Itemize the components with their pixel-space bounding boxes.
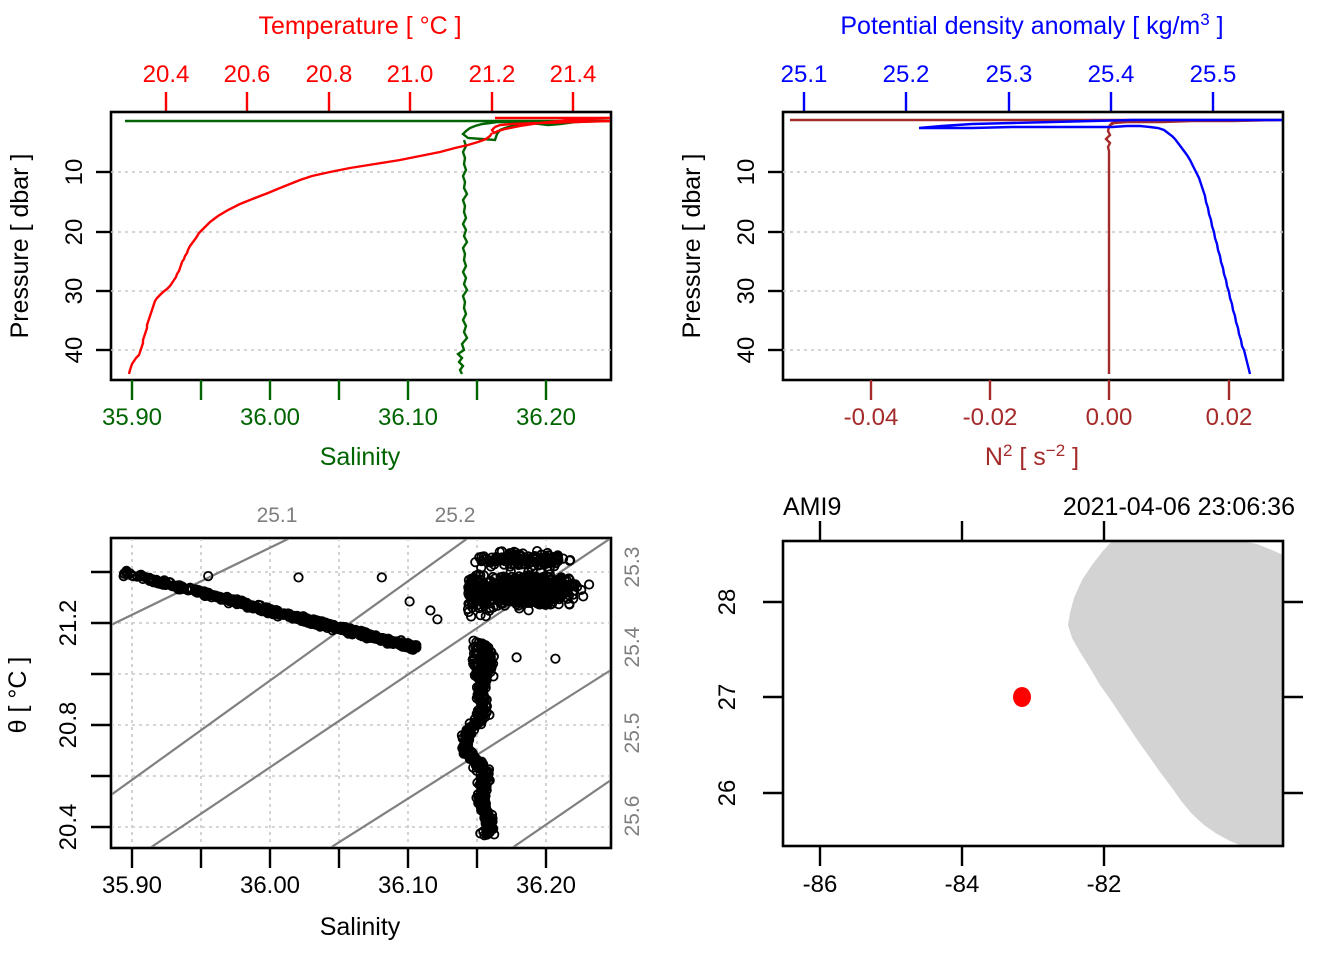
salinity-tick-labels-ts-diagram: 35.90 36.00 36.10 36.20 (102, 872, 576, 899)
svg-text:25.2: 25.2 (435, 504, 476, 527)
svg-text:25.5: 25.5 (621, 713, 644, 754)
salinity-ticks (132, 380, 546, 400)
isopycnal-labels-top: 25.1 25.2 (257, 504, 476, 527)
svg-text:-84: -84 (945, 871, 980, 898)
svg-text:21.2: 21.2 (469, 61, 516, 88)
svg-text:0.02: 0.02 (1206, 404, 1253, 431)
map-left-ticks (763, 602, 783, 793)
map-top-ticks (820, 521, 1104, 541)
svg-text:20.4: 20.4 (143, 61, 190, 88)
station-map-svg: AMI9 2021-04-06 23:06:36 28 27 26 (672, 480, 1344, 960)
theta-ticks (91, 572, 111, 827)
svg-text:25.1: 25.1 (257, 504, 298, 527)
salinity-axis-title: Salinity (320, 443, 401, 471)
svg-text:36.20: 36.20 (516, 872, 576, 899)
station-timestamp-label: 2021-04-06 23:06:36 (1063, 493, 1295, 521)
svg-text:-86: -86 (803, 871, 838, 898)
svg-text:21.4: 21.4 (550, 61, 597, 88)
gridlines-density (783, 172, 1283, 350)
svg-text:-0.04: -0.04 (844, 404, 899, 431)
svg-text:28: 28 (714, 589, 741, 616)
temperature-axis-title: Temperature [ °C ] (258, 12, 461, 40)
svg-text:36.10: 36.10 (378, 404, 438, 431)
panel-density-n2-profile: Potential density anomaly [ kg/m3 ] 25.1… (672, 0, 1344, 480)
panel-station-map: AMI9 2021-04-06 23:06:36 28 27 26 (672, 480, 1344, 960)
pressure-tick-labels-left: 10 20 30 40 (61, 159, 88, 364)
svg-text:20.8: 20.8 (306, 61, 353, 88)
profile-ts-svg: Temperature [ °C ] 20.4 20.6 20.8 21.0 2… (0, 0, 672, 480)
svg-text:25.3: 25.3 (621, 547, 644, 588)
svg-text:20: 20 (733, 219, 760, 246)
svg-text:10: 10 (61, 159, 88, 186)
density-tick-labels: 25.1 25.2 25.3 25.4 25.5 (781, 61, 1237, 88)
svg-text:25.6: 25.6 (621, 796, 644, 837)
svg-text:36.00: 36.00 (240, 404, 300, 431)
svg-text:30: 30 (733, 278, 760, 305)
svg-text:20.4: 20.4 (55, 804, 82, 851)
panel-ts-diagram: 25.1 25.2 25.3 25.4 25.5 25.6 θ [ °C ] 2… (0, 480, 672, 960)
salinity-ticks-ts-diagram (132, 848, 546, 868)
svg-text:40: 40 (733, 337, 760, 364)
svg-text:35.90: 35.90 (102, 404, 162, 431)
svg-text:36.20: 36.20 (516, 404, 576, 431)
plot-box-density (783, 112, 1283, 380)
pressure-axis-title-right: Pressure [ dbar ] (678, 154, 706, 339)
map-longitude-labels: -86 -84 -82 (803, 871, 1122, 898)
plot-box-ts (111, 112, 611, 380)
theta-tick-labels: 21.2 20.8 20.4 (55, 600, 82, 851)
ts-diagram-svg: 25.1 25.2 25.3 25.4 25.5 25.6 θ [ °C ] 2… (0, 480, 672, 960)
temperature-ticks (166, 92, 573, 112)
map-right-ticks (1283, 602, 1303, 793)
svg-text:25.3: 25.3 (986, 61, 1033, 88)
n2-axis-title: N2 [ s−2 ] (985, 441, 1079, 471)
station-name-label: AMI9 (783, 493, 841, 521)
svg-text:40: 40 (61, 337, 88, 364)
svg-text:20.6: 20.6 (224, 61, 271, 88)
map-latitude-labels: 28 27 26 (714, 589, 741, 807)
svg-text:26: 26 (714, 780, 741, 807)
svg-text:21.0: 21.0 (387, 61, 434, 88)
svg-text:25.4: 25.4 (1088, 61, 1135, 88)
svg-text:36.00: 36.00 (240, 872, 300, 899)
n2-ticks (871, 380, 1229, 400)
svg-text:27: 27 (714, 684, 741, 711)
temperature-profile-line (129, 118, 611, 374)
svg-text:0.00: 0.00 (1086, 404, 1133, 431)
svg-text:30: 30 (61, 278, 88, 305)
n2-tick-labels: -0.04 -0.02 0.00 0.02 (844, 404, 1253, 431)
salinity-profile-line (125, 121, 611, 374)
density-ticks (804, 92, 1213, 112)
pressure-ticks-left (96, 172, 111, 350)
ctd-summary-figure: Temperature [ °C ] 20.4 20.6 20.8 21.0 2… (0, 0, 1344, 960)
pressure-tick-labels-right: 10 20 30 40 (733, 159, 760, 364)
svg-text:20: 20 (61, 219, 88, 246)
density-profile-line (919, 120, 1283, 374)
svg-text:21.2: 21.2 (55, 600, 82, 647)
station-marker-dot (1013, 687, 1031, 707)
land-polygon-florida (1068, 541, 1283, 846)
panel-temperature-salinity-profile: Temperature [ °C ] 20.4 20.6 20.8 21.0 2… (0, 0, 672, 480)
profile-density-svg: Potential density anomaly [ kg/m3 ] 25.1… (672, 0, 1344, 480)
density-axis-title: Potential density anomaly [ kg/m3 ] (840, 10, 1223, 40)
n2-profile-line (790, 120, 1283, 374)
svg-text:-0.02: -0.02 (963, 404, 1018, 431)
pressure-axis-title-left: Pressure [ dbar ] (6, 154, 34, 339)
temperature-tick-labels: 20.4 20.6 20.8 21.0 21.2 21.4 (143, 61, 597, 88)
svg-text:25.1: 25.1 (781, 61, 828, 88)
svg-text:25.2: 25.2 (883, 61, 930, 88)
map-bottom-ticks (820, 846, 1104, 866)
svg-text:25.5: 25.5 (1190, 61, 1237, 88)
isopycnal-labels-right: 25.3 25.4 25.5 25.6 (621, 547, 644, 837)
salinity-tick-labels: 35.90 36.00 36.10 36.20 (102, 404, 576, 431)
gridlines-ts (111, 172, 611, 350)
svg-text:10: 10 (733, 159, 760, 186)
svg-text:36.10: 36.10 (378, 872, 438, 899)
svg-text:35.90: 35.90 (102, 872, 162, 899)
salinity-axis-title-ts-diagram: Salinity (320, 913, 401, 941)
ts-scatter-points (119, 547, 593, 840)
pressure-ticks-right (768, 172, 783, 350)
svg-text:25.4: 25.4 (621, 626, 644, 667)
theta-axis-title: θ [ °C ] (4, 657, 32, 734)
svg-text:20.8: 20.8 (55, 702, 82, 749)
svg-text:-82: -82 (1087, 871, 1122, 898)
